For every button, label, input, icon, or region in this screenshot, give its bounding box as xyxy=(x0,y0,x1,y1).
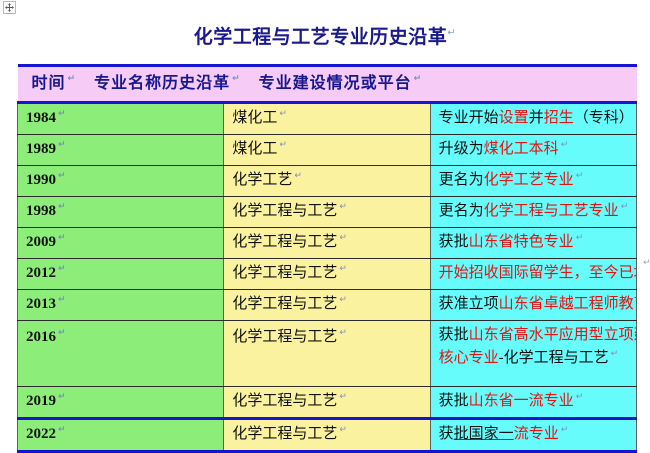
info-text: 获准立项 xyxy=(439,296,499,312)
cell-construction-info: 更名为化学工程与工艺专业↵ xyxy=(430,197,636,228)
major-name-value: 煤化工 xyxy=(232,110,277,126)
year-value: 1989 xyxy=(26,141,56,157)
info-text: 获批 xyxy=(439,393,469,409)
year-value: 2012 xyxy=(26,265,56,281)
paragraph-mark: ↵ xyxy=(339,264,347,274)
cell-year: 2019↵ xyxy=(18,387,224,419)
table-row[interactable]: 1989↵ 煤化工↵ 升级为煤化工本科↵ xyxy=(18,135,637,166)
info-highlight: 化学工程与工艺专业 xyxy=(484,203,619,219)
table-row[interactable]: 2012↵ 化学工程与工艺↵ 开始招收国际留学生，至今已培养8届毕业生↵ xyxy=(18,259,637,290)
paragraph-mark: ↵ xyxy=(58,264,66,274)
table-move-handle[interactable] xyxy=(3,1,16,14)
info-text: 获批 xyxy=(439,327,469,343)
paragraph-mark: ↵ xyxy=(576,392,584,402)
column-header-construction: 专业建设情况或平台 xyxy=(259,75,412,92)
major-name-value: 化学工程与工艺 xyxy=(232,296,337,312)
info-highlight: 山东省卓越工程师教育培训计划 xyxy=(499,296,637,312)
cell-major-name: 化学工程与工艺↵ xyxy=(224,197,430,228)
cell-construction-info: 专业开始设置并招生（专科）↵ xyxy=(430,103,636,135)
year-value: 1984 xyxy=(26,110,56,126)
major-name-value: 化学工程与工艺 xyxy=(232,393,337,409)
page-title-text: 化学工程与工艺专业历史沿革 xyxy=(194,27,448,48)
info-line-2: 核心专业-化学工程与工艺↵ xyxy=(439,347,636,370)
cell-construction-info: 获批山东省高水平应用型立项建设专业群↵ 核心专业-化学工程与工艺↵ xyxy=(430,321,636,387)
cell-year: 2012↵ xyxy=(18,259,224,290)
column-header-time: 时间 xyxy=(32,75,66,92)
paragraph-mark: ↵ xyxy=(561,425,569,435)
paragraph-mark: ↵ xyxy=(339,233,347,243)
paragraph-mark: ↵ xyxy=(279,140,287,150)
cell-major-name: 化学工程与工艺↵ xyxy=(224,228,430,259)
cell-major-name: 化学工程与工艺↵ xyxy=(224,290,430,321)
major-name-value: 化学工程与工艺 xyxy=(232,234,337,250)
info-text: 更名为 xyxy=(439,172,484,188)
cell-construction-info: 更名为化学工艺专业↵ xyxy=(430,166,636,197)
major-name-value: 化学工艺 xyxy=(232,172,292,188)
table-row[interactable]: 2019↵ 化学工程与工艺↵ 获批山东省一流专业↵ xyxy=(18,387,637,419)
info-text: 升级为 xyxy=(439,141,484,157)
info-text: 获 xyxy=(439,426,454,442)
paragraph-mark: ↵ xyxy=(58,233,66,243)
info-highlight: 设置 xyxy=(499,110,529,126)
paragraph-mark: ↵ xyxy=(339,425,347,435)
year-value: 1998 xyxy=(26,203,56,219)
info-text: 专业开始 xyxy=(439,110,499,126)
cell-year: 2022↵ xyxy=(18,419,224,452)
info-highlight: 流专业 xyxy=(514,426,559,442)
info-text: （专科） xyxy=(574,110,634,126)
cell-major-name: 化学工程与工艺↵ xyxy=(224,259,430,290)
table-row[interactable]: 2022↵ 化学工程与工艺↵ 获批国家一流专业↵ xyxy=(18,419,637,452)
cell-major-name: 化学工艺↵ xyxy=(224,166,430,197)
info-text: 更名为 xyxy=(439,203,484,219)
paragraph-mark: ↵ xyxy=(58,392,66,402)
major-name-value: 煤化工 xyxy=(232,141,277,157)
table-header-cells: 时间↵专业名称历史沿革↵专业建设情况或平台↵ xyxy=(18,66,637,103)
cell-construction-info: 获批国家一流专业↵ xyxy=(430,419,636,452)
table-row[interactable]: 1990↵ 化学工艺↵ 更名为化学工艺专业↵ xyxy=(18,166,637,197)
paragraph-mark: ↵ xyxy=(58,328,66,338)
year-value: 1990 xyxy=(26,172,56,188)
paragraph-mark: ↵ xyxy=(58,171,66,181)
cell-construction-info: 升级为煤化工本科↵ xyxy=(430,135,636,166)
cell-major-name: 化学工程与工艺↵ xyxy=(224,321,430,387)
cell-year: 1989↵ xyxy=(18,135,224,166)
cell-year: 2016↵ xyxy=(18,321,224,387)
table-row[interactable]: 1998↵ 化学工程与工艺↵ 更名为化学工程与工艺专业↵ xyxy=(18,197,637,228)
paragraph-mark: ↵ xyxy=(58,202,66,212)
info-highlight: 核心专业 xyxy=(439,350,499,366)
year-value: 2009 xyxy=(26,234,56,250)
history-table: 时间↵专业名称历史沿革↵专业建设情况或平台↵ 1984↵ 煤化工↵ 专业开始设置… xyxy=(17,64,637,453)
move-cross-icon xyxy=(4,2,15,13)
page-title: 化学工程与工艺专业历史沿革↵ xyxy=(0,22,650,49)
cell-major-name: 煤化工↵ xyxy=(224,135,430,166)
paragraph-mark: ↵ xyxy=(561,140,569,150)
info-line-1: 获批山东省高水平应用型立项建设专业群↵ xyxy=(439,324,636,347)
paragraph-mark: ↵ xyxy=(636,109,637,119)
cell-construction-info: 获准立项山东省卓越工程师教育培训计划↵ xyxy=(430,290,636,321)
cell-year: 1998↵ xyxy=(18,197,224,228)
info-highlight: 开始招收国际留学生，至今已培养8届毕业生 xyxy=(439,265,637,281)
year-value: 2016 xyxy=(26,329,56,345)
table-row[interactable]: 2016↵ 化学工程与工艺↵ 获批山东省高水平应用型立项建设专业群↵ 核心专业-… xyxy=(18,321,637,387)
paragraph-mark: ↵ xyxy=(294,171,302,181)
cell-construction-info: 获批山东省特色专业↵ xyxy=(430,228,636,259)
cell-year: 2013↵ xyxy=(18,290,224,321)
info-highlight: 山东省一流专业 xyxy=(469,393,574,409)
paragraph-mark: ↵ xyxy=(58,425,66,435)
paragraph-mark: ↵ xyxy=(447,28,456,39)
table-row[interactable]: 2009↵ 化学工程与工艺↵ 获批山东省特色专业↵ xyxy=(18,228,637,259)
paragraph-mark-outside: ↵ xyxy=(643,258,650,268)
major-name-value: 化学工程与工艺 xyxy=(232,426,337,442)
info-highlight: 山东省高水平应用型立项建设专业群 xyxy=(469,327,637,343)
cell-construction-info: 开始招收国际留学生，至今已培养8届毕业生↵ xyxy=(430,259,636,290)
info-text: 获批 xyxy=(439,234,469,250)
paragraph-mark: ↵ xyxy=(279,109,287,119)
cell-major-name: 煤化工↵ xyxy=(224,103,430,135)
paragraph-mark: ↵ xyxy=(58,140,66,150)
table-row[interactable]: 2013↵ 化学工程与工艺↵ 获准立项山东省卓越工程师教育培训计划↵ xyxy=(18,290,637,321)
paragraph-mark: ↵ xyxy=(58,109,66,119)
info-highlight: 煤化工本科 xyxy=(484,141,559,157)
info-highlight: 山东省特色专业 xyxy=(469,234,574,250)
paragraph-mark: ↵ xyxy=(339,392,347,402)
paragraph-mark: ↵ xyxy=(58,295,66,305)
paragraph-mark: ↵ xyxy=(339,328,347,338)
cell-year: 2009↵ xyxy=(18,228,224,259)
column-header-name-history: 专业名称历史沿革 xyxy=(94,75,230,92)
paragraph-mark: ↵ xyxy=(339,295,347,305)
major-name-value: 化学工程与工艺 xyxy=(232,265,337,281)
table-row[interactable]: 1984↵ 煤化工↵ 专业开始设置并招生（专科）↵ xyxy=(18,103,637,135)
year-value: 2022 xyxy=(26,426,56,442)
cell-major-name: 化学工程与工艺↵ xyxy=(224,387,430,419)
paragraph-mark: ↵ xyxy=(414,74,423,84)
paragraph-mark: ↵ xyxy=(611,349,619,359)
info-highlight: 招生 xyxy=(544,110,574,126)
info-underlined: 批国家一 xyxy=(454,426,514,442)
cell-year: 1984↵ xyxy=(18,103,224,135)
major-name-value: 化学工程与工艺 xyxy=(232,203,337,219)
info-highlight: 化学工艺专业 xyxy=(484,172,574,188)
paragraph-mark: ↵ xyxy=(621,202,629,212)
paragraph-mark: ↵ xyxy=(339,202,347,212)
paragraph-mark: ↵ xyxy=(576,171,584,181)
paragraph-mark: ↵ xyxy=(68,74,77,84)
history-table-wrapper: 时间↵专业名称历史沿革↵专业建设情况或平台↵ 1984↵ 煤化工↵ 专业开始设置… xyxy=(17,64,637,453)
paragraph-mark: ↵ xyxy=(576,233,584,243)
year-value: 2013 xyxy=(26,296,56,312)
paragraph-mark: ↵ xyxy=(232,74,241,84)
year-value: 2019 xyxy=(26,393,56,409)
cell-construction-info: 获批山东省一流专业↵ xyxy=(430,387,636,419)
info-text: 并 xyxy=(529,110,544,126)
cell-major-name: 化学工程与工艺↵ xyxy=(224,419,430,452)
cell-year: 1990↵ xyxy=(18,166,224,197)
info-text: -化学工程与工艺 xyxy=(499,350,609,366)
major-name-value: 化学工程与工艺 xyxy=(232,329,337,345)
table-header-row: 时间↵专业名称历史沿革↵专业建设情况或平台↵ xyxy=(18,66,637,103)
